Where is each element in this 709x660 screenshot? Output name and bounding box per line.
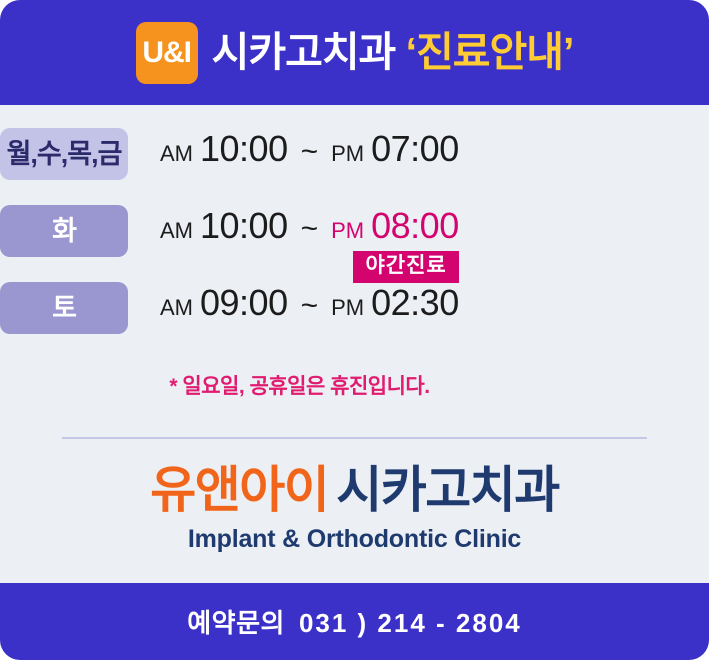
time-separator: ~ <box>301 289 319 323</box>
page-title-accent: ‘진료안내’ <box>406 29 574 75</box>
clinic-logo-badge: U&I <box>136 22 198 84</box>
schedule-row: 화 AM 10:00 ~ PM 08:00 야간진료 <box>0 205 709 282</box>
close-time: 02:30 <box>371 282 459 324</box>
close-time: 07:00 <box>371 128 459 170</box>
reservation-contact: 예약문의031 ) 214 - 2804 <box>187 603 522 640</box>
open-time: 10:00 <box>200 205 288 247</box>
section-divider <box>62 437 647 439</box>
day-badge-saturday: 토 <box>0 282 128 334</box>
clinic-hours-card: U&I 시카고치과 ‘진료안내’ 월,수,목,금 AM 10:00 ~ PM 0… <box>0 0 709 660</box>
open-meridiem: AM <box>160 295 193 321</box>
day-badge-label: 월,수,목,금 <box>7 141 122 168</box>
close-meridiem: PM <box>331 218 364 244</box>
hours-group: AM 10:00 ~ PM 08:00 야간진료 <box>160 205 459 283</box>
logo-text: U&I <box>142 38 191 68</box>
close-time: 08:00 <box>371 205 459 247</box>
hours-group: AM 10:00 ~ PM 07:00 <box>160 128 459 180</box>
open-time: 09:00 <box>200 282 288 324</box>
schedule-list: 월,수,목,금 AM 10:00 ~ PM 07:00 화 AM 10:00 <box>0 128 709 359</box>
day-badge-label: 화 <box>52 218 76 245</box>
clinic-identity: 유앤아이시카고치과 Implant & Orthodontic Clinic <box>0 462 709 554</box>
day-badge-label: 토 <box>52 295 76 322</box>
night-clinic-tag: 야간진료 <box>353 251 458 283</box>
open-meridiem: AM <box>160 218 193 244</box>
clinic-name: 유앤아이시카고치과 <box>0 462 709 520</box>
footer-banner: 예약문의031 ) 214 - 2804 <box>0 583 709 660</box>
clinic-name-title: 시카고치과 <box>336 462 559 518</box>
reservation-label: 예약문의 <box>187 608 285 638</box>
open-time: 10:00 <box>200 128 288 170</box>
closed-days-note: * 일요일, 공휴일은 휴진입니다. <box>0 370 709 400</box>
time-separator: ~ <box>301 135 319 169</box>
phone-number[interactable]: 031 ) 214 - 2804 <box>299 608 522 638</box>
hours-line: AM 10:00 ~ PM 07:00 <box>160 128 459 180</box>
hours-line: AM 09:00 ~ PM 02:30 <box>160 282 459 334</box>
hours-line: AM 10:00 ~ PM 08:00 <box>160 205 459 257</box>
day-badge-weekdays: 월,수,목,금 <box>0 128 128 180</box>
close-meridiem: PM <box>331 295 364 321</box>
time-separator: ~ <box>301 212 319 246</box>
header-banner: U&I 시카고치과 ‘진료안내’ <box>0 0 709 105</box>
page-title-main: 시카고치과 <box>212 29 396 75</box>
schedule-row: 월,수,목,금 AM 10:00 ~ PM 07:00 <box>0 128 709 205</box>
hours-group: AM 09:00 ~ PM 02:30 <box>160 282 459 334</box>
clinic-tagline: Implant & Orthodontic Clinic <box>0 524 709 554</box>
open-meridiem: AM <box>160 141 193 167</box>
clinic-name-brand: 유앤아이 <box>150 462 328 518</box>
day-badge-tuesday: 화 <box>0 205 128 257</box>
page-title: 시카고치과 ‘진료안내’ <box>212 32 574 73</box>
schedule-row: 토 AM 09:00 ~ PM 02:30 <box>0 282 709 359</box>
close-meridiem: PM <box>331 141 364 167</box>
